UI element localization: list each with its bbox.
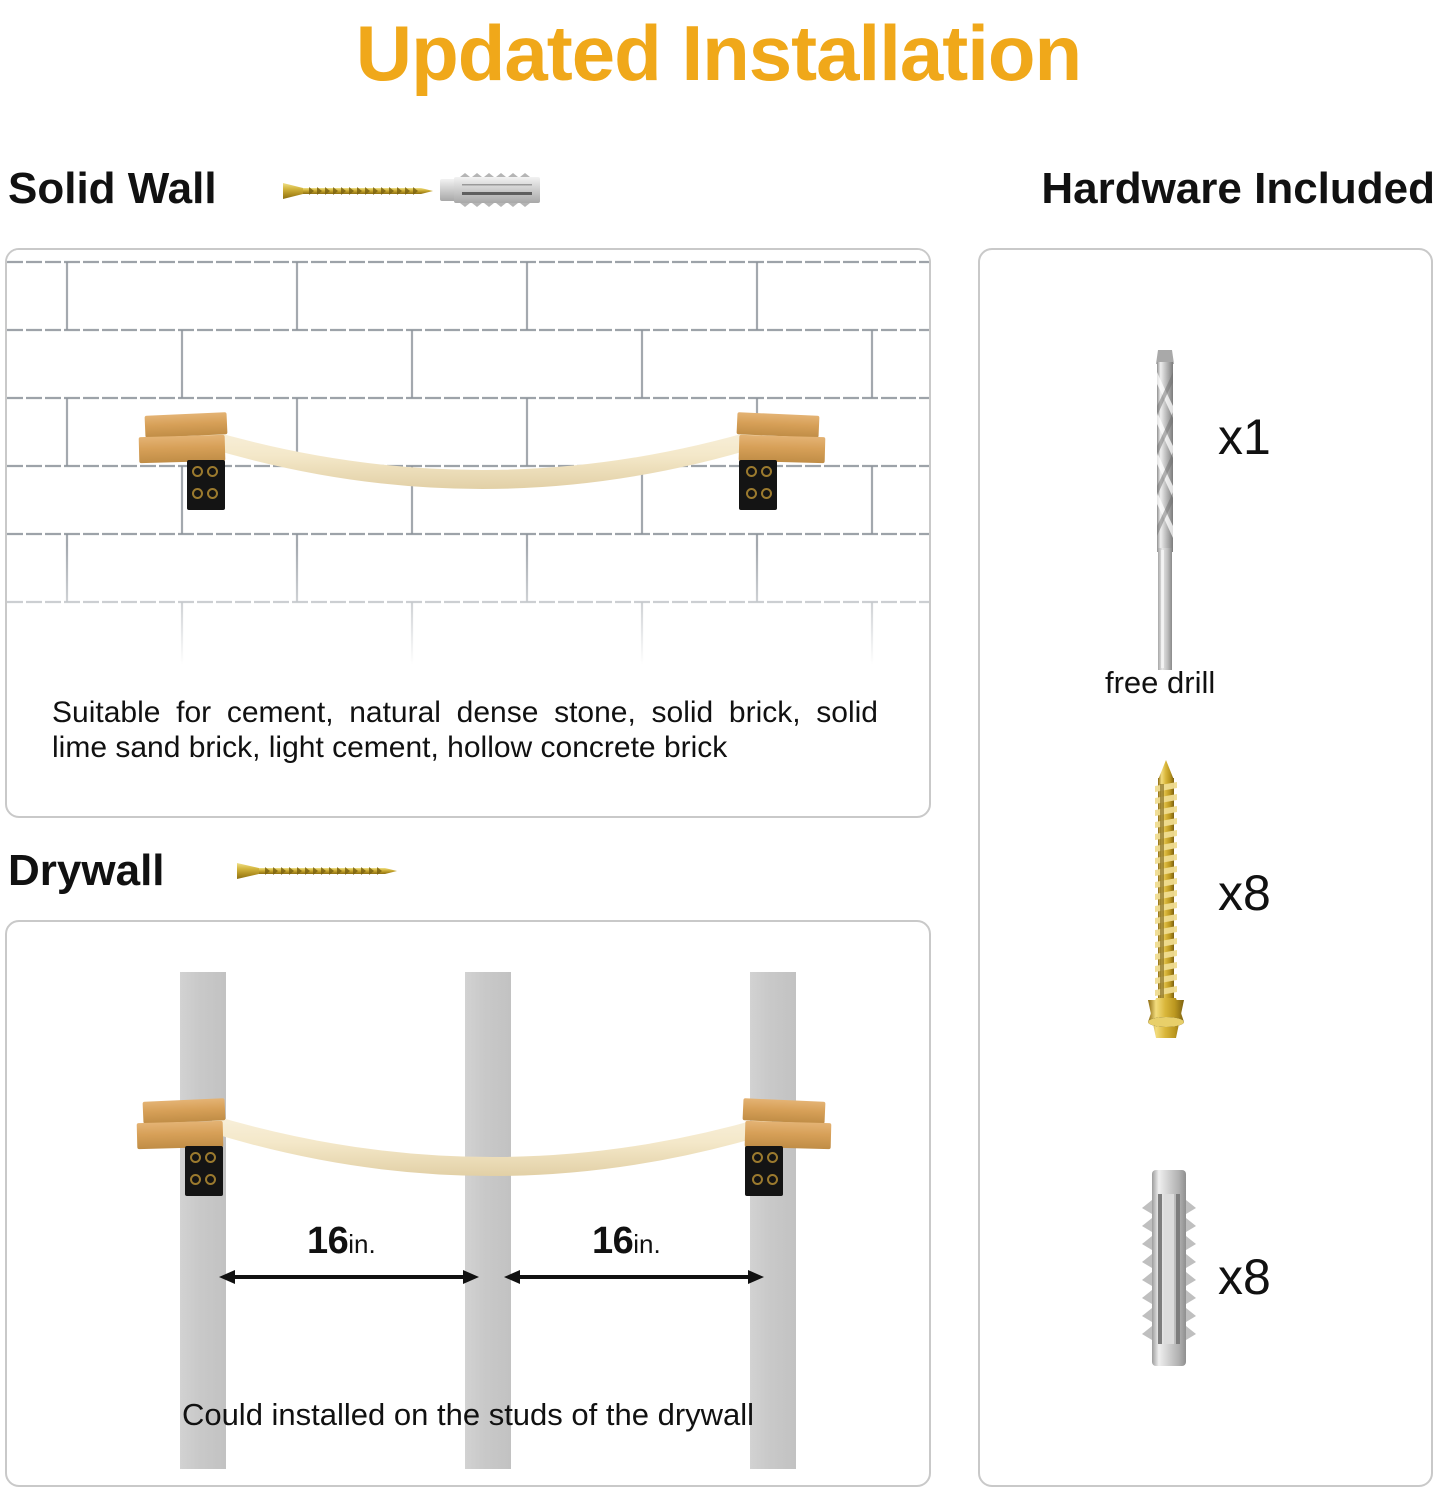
- metal-bracket-plate: [739, 460, 777, 510]
- screw-hole: [761, 466, 772, 477]
- dimension-unit: in.: [633, 1229, 660, 1259]
- wall-anchor-icon: [1140, 1170, 1198, 1370]
- screw-hole: [205, 1174, 216, 1185]
- hardware-quantity-drill: x1: [1218, 412, 1271, 462]
- section-heading-hardware: Hardware Included: [1041, 163, 1435, 215]
- hardware-quantity-screw: x8: [1218, 868, 1271, 918]
- screw-hole: [190, 1152, 201, 1163]
- section-heading-drywall: Drywall: [8, 845, 165, 897]
- hardware-panel: x1 free drill: [978, 248, 1433, 1487]
- dimension-unit: in.: [348, 1229, 375, 1259]
- wall-bracket-right: [737, 414, 827, 504]
- wood-block-top: [737, 412, 820, 438]
- gold-screw-icon: [1144, 760, 1188, 1038]
- screw-icon: [237, 858, 397, 884]
- wood-block-bottom: [139, 435, 226, 463]
- wood-block-top: [145, 412, 228, 438]
- screw-hole: [190, 1174, 201, 1185]
- screw-hole: [205, 1152, 216, 1163]
- wood-block-bottom: [739, 435, 826, 463]
- shelf-strap: [202, 420, 762, 500]
- wood-block-bottom: [745, 1121, 832, 1149]
- shelf-strap: [212, 1107, 772, 1187]
- screw-hole: [752, 1174, 763, 1185]
- screw-hole: [746, 488, 757, 499]
- screw-hole: [207, 488, 218, 499]
- drywall-stud-right: [750, 972, 796, 1469]
- dimension-label-right: 16in.: [592, 1222, 661, 1260]
- screw-hole: [761, 488, 772, 499]
- metal-bracket-plate: [745, 1146, 783, 1196]
- metal-bracket-plate: [185, 1146, 223, 1196]
- drywall-stud-center: [465, 972, 511, 1469]
- metal-bracket-plate: [187, 460, 225, 510]
- drywall-stud-left: [180, 972, 226, 1469]
- wall-bracket-left: [137, 414, 227, 504]
- dimension-value: 16: [592, 1220, 633, 1262]
- hardware-item-drill: x1 free drill: [980, 250, 1433, 700]
- screw-hole: [767, 1152, 778, 1163]
- wall-anchor-icon: [440, 173, 544, 207]
- wall-bracket-right: [743, 1100, 833, 1190]
- dimension-arrow-left: [219, 1267, 479, 1287]
- screw-hole: [207, 466, 218, 477]
- hardware-quantity-anchor: x8: [1218, 1252, 1271, 1302]
- screw-icon: [283, 178, 433, 204]
- drywall-panel: 16in. 16in. Could installed on the studs…: [5, 920, 931, 1487]
- wood-block-top: [743, 1098, 826, 1124]
- hardware-item-anchor: x8: [980, 1160, 1433, 1420]
- screw-hole: [192, 466, 203, 477]
- masonry-drill-bit-icon: [1148, 350, 1182, 670]
- dimension-label-left: 16in.: [307, 1222, 376, 1260]
- dimension-arrow-right: [504, 1267, 764, 1287]
- wood-block-bottom: [137, 1121, 224, 1149]
- wood-block-top: [143, 1098, 226, 1124]
- solid-wall-caption: Suitable for cement, natural dense stone…: [52, 695, 878, 765]
- drywall-caption: Could installed on the studs of the dryw…: [7, 1397, 929, 1432]
- screw-hole: [767, 1174, 778, 1185]
- hardware-caption-drill: free drill: [1105, 665, 1215, 701]
- screw-hole: [192, 488, 203, 499]
- page-title: Updated Installation: [0, 5, 1437, 101]
- hardware-item-screw: x8: [980, 750, 1433, 1060]
- section-heading-solid-wall: Solid Wall: [8, 163, 217, 215]
- screw-hole: [752, 1152, 763, 1163]
- wall-bracket-left: [135, 1100, 225, 1190]
- screw-hole: [746, 466, 757, 477]
- dimension-value: 16: [307, 1220, 348, 1262]
- infographic-root: Updated Installation Solid Wall: [0, 0, 1437, 1497]
